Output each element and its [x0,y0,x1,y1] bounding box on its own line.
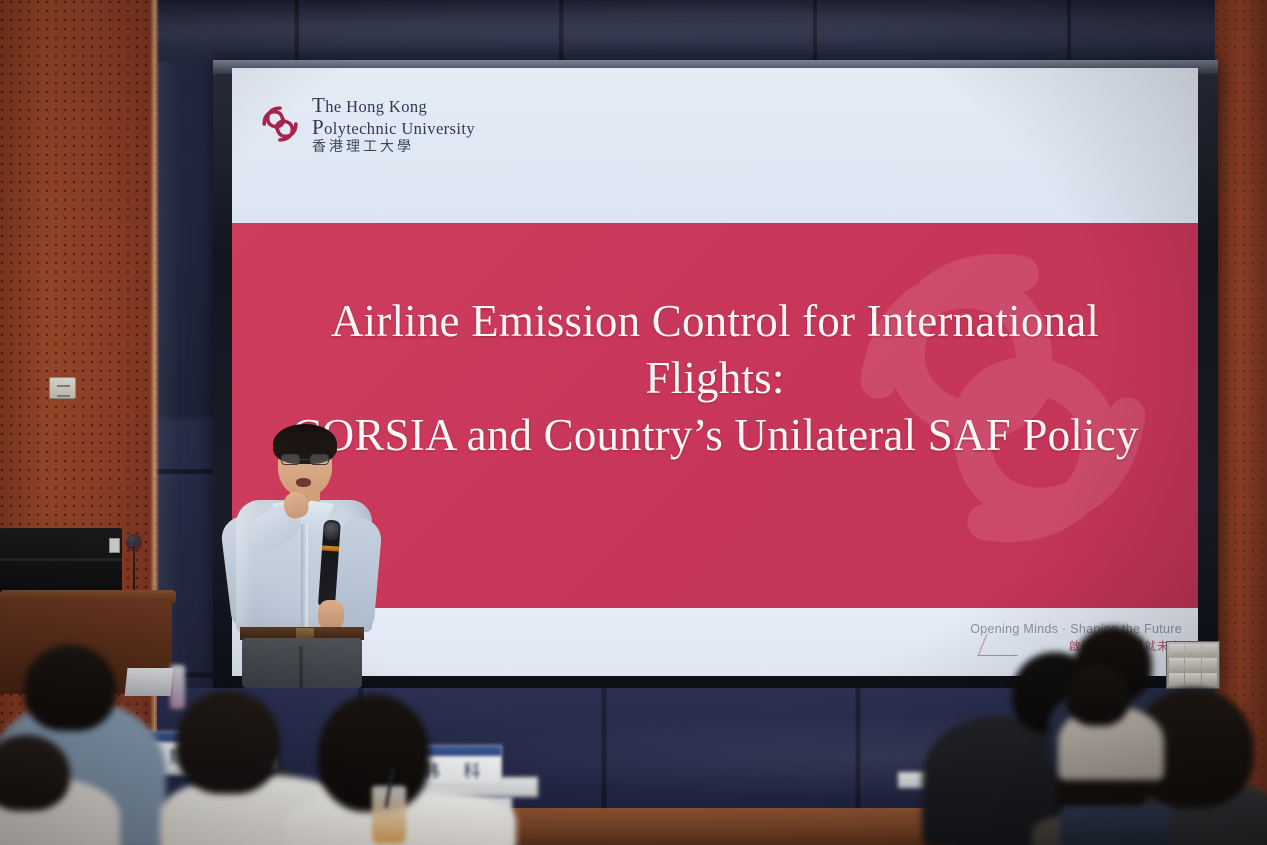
slide-title-line2: CORSIA and Country’s Unilateral SAF Poli… [266,407,1164,464]
eyeglasses-icon [281,454,329,465]
audience-chair-far-right [1060,806,1170,845]
water-bottle-left [170,665,185,709]
presenter-mouth [296,478,311,487]
polyu-knot-logo-icon [258,102,302,146]
logo-name-line1: The Hong Kong [312,94,475,116]
logo-name-line2: Polytechnic University [312,116,475,138]
audience-member-3-head [176,690,280,794]
presenter [226,424,378,688]
presenter-shirt-placket [301,524,308,632]
wall-control-panel[interactable] [1166,641,1220,689]
wall-socket[interactable] [49,377,76,399]
tagline-english: Opening Minds · Shaping the Future [970,622,1182,636]
logo-name-chinese: 香港理工大學 [312,139,475,154]
wall-panel-top-row [157,0,1215,62]
presenter-right-hand [318,600,344,630]
lecture-hall-photo: The Hong Kong Polytechnic University 香港理… [0,0,1267,845]
audience-member-9-head [1066,664,1130,726]
podium-paper [125,668,174,696]
audience-member-1-head [24,645,116,731]
presenter-trousers [242,638,362,688]
podium-monitor [0,528,122,598]
slide-title-line1: Airline Emission Control for Internation… [266,293,1164,407]
polyu-logo-lockup: The Hong Kong Polytechnic University 香港理… [258,94,475,154]
slide-top-band: The Hong Kong Polytechnic University 香港理… [232,68,1198,223]
monitor-label [109,538,120,553]
